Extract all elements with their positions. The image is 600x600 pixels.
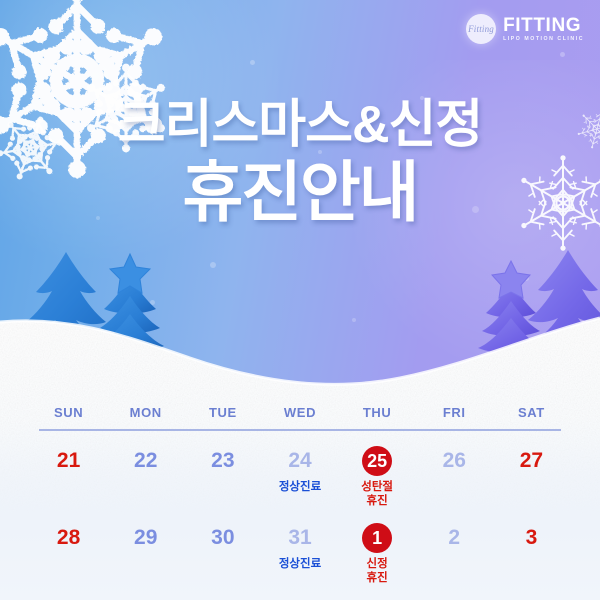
calendar-day-cell[interactable]: 22	[107, 448, 184, 508]
calendar-day-number: 29	[107, 525, 184, 551]
calendar-day-cell[interactable]: 31정상진료	[261, 525, 338, 585]
calendar-day-number: 28	[30, 525, 107, 551]
holiday-day-badge: 25	[362, 446, 392, 476]
calendar-day-cell[interactable]: 28	[30, 525, 107, 585]
logo-text: FITTING LIPO MOTION CLINIC	[503, 16, 584, 42]
calendar-day-number: 2	[416, 525, 493, 551]
open-note: 정상진료	[261, 557, 338, 571]
calendar-day-number: 27	[493, 448, 570, 474]
page-title: 크리스마스&신정 휴진안내	[0, 96, 600, 228]
calendar-day-cell[interactable]: 21	[30, 448, 107, 508]
brand-logo: Fitting FITTING LIPO MOTION CLINIC	[466, 14, 584, 44]
open-note: 정상진료	[261, 480, 338, 494]
calendar-day-number: 24	[261, 448, 338, 474]
title-line-1: 크리스마스&신정	[0, 96, 600, 154]
brand-name: FITTING	[503, 16, 584, 35]
calendar-day-number: 26	[416, 448, 493, 474]
closed-note: 신정 휴진	[339, 557, 416, 585]
bokeh-dot	[560, 52, 565, 57]
calendar-day-cell[interactable]: 3	[493, 525, 570, 585]
calendar-day-cell[interactable]: 29	[107, 525, 184, 585]
calendar-weeks: 21222324정상진료25성탄절 휴진262728293031정상진료1신정 …	[0, 448, 600, 585]
holiday-day-badge: 1	[362, 523, 392, 553]
calendar-weekday-header: SUNMONTUEWEDTHUFRISAT	[30, 405, 570, 429]
calendar-day-cell[interactable]: 26	[416, 448, 493, 508]
calendar-day-cell[interactable]: 1신정 휴진	[339, 525, 416, 585]
calendar-divider	[39, 429, 561, 431]
calendar-day-number: 22	[107, 448, 184, 474]
bokeh-dot	[210, 262, 216, 268]
calendar-day-number: 3	[493, 525, 570, 551]
brand-tagline: LIPO MOTION CLINIC	[503, 37, 584, 42]
calendar-day-number: 21	[30, 448, 107, 474]
calendar-day-cell[interactable]: 25성탄절 휴진	[339, 448, 416, 508]
calendar-weekday-fri: FRI	[416, 405, 493, 429]
logo-badge-icon: Fitting	[466, 14, 496, 44]
calendar-weekday-wed: WED	[261, 405, 338, 429]
calendar-day-number: 30	[184, 525, 261, 551]
closed-note: 성탄절 휴진	[339, 480, 416, 508]
title-line-2: 휴진안내	[0, 156, 600, 228]
calendar-day-number-holiday: 25	[339, 448, 416, 474]
calendar-weekday-sat: SAT	[493, 405, 570, 429]
calendar-day-cell[interactable]: 30	[184, 525, 261, 585]
holiday-notice-poster: Fitting FITTING LIPO MOTION CLINIC 크리스마스…	[0, 0, 600, 600]
logo-badge-script: Fitting	[468, 25, 494, 34]
calendar-weekday-sun: SUN	[30, 405, 107, 429]
calendar-weekday-tue: TUE	[184, 405, 261, 429]
calendar-weekday-mon: MON	[107, 405, 184, 429]
bokeh-dot	[250, 60, 255, 65]
calendar-week-row: 21222324정상진료25성탄절 휴진2627	[30, 448, 570, 508]
calendar-day-cell[interactable]: 23	[184, 448, 261, 508]
calendar-day-number: 23	[184, 448, 261, 474]
calendar-week-row: 28293031정상진료1신정 휴진23	[30, 525, 570, 585]
holiday-calendar: SUNMONTUEWEDTHUFRISAT 21222324정상진료25성탄절 …	[0, 405, 600, 585]
calendar-day-cell[interactable]: 27	[493, 448, 570, 508]
calendar-day-number: 31	[261, 525, 338, 551]
calendar-day-cell[interactable]: 24정상진료	[261, 448, 338, 508]
calendar-weekday-thu: THU	[339, 405, 416, 429]
calendar-day-cell[interactable]: 2	[416, 525, 493, 585]
calendar-day-number-holiday: 1	[339, 525, 416, 551]
